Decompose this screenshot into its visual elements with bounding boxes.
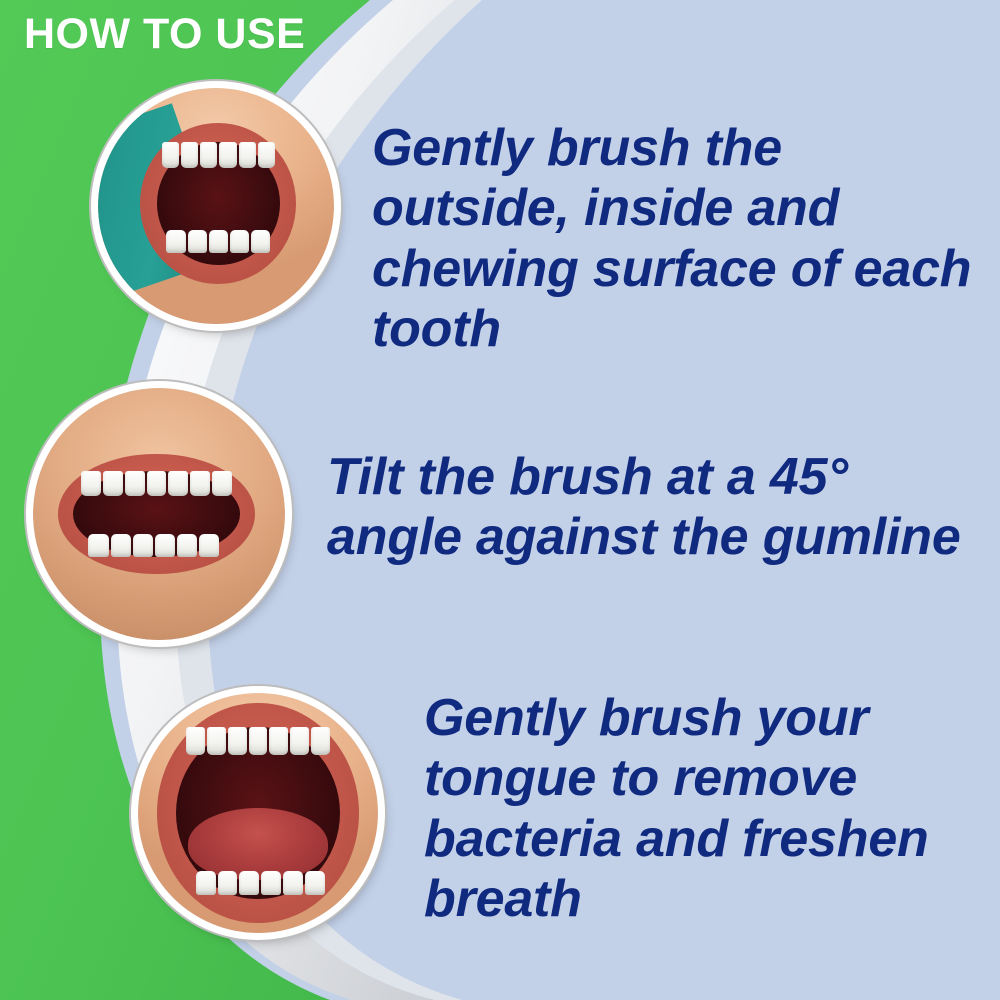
step-2-instruction-text: Tilt the brush at a 45° angle against th… [327,447,987,568]
open-mouth-brushing-front-teeth-photo [98,88,334,324]
tongue [188,808,327,880]
lower-teeth [88,534,219,557]
lower-teeth [196,871,326,895]
upper-teeth [186,727,330,756]
upper-teeth [81,471,232,496]
open-mouth-brushing-tongue-photo [138,693,378,933]
upper-teeth [162,142,275,168]
page-title: HOW TO USE [24,12,305,57]
step-3-instruction-text: Gently brush your tongue to remove bacte… [424,688,984,929]
lower-teeth [166,230,270,254]
mouth-brush-45-degree-gumline-photo [33,388,285,640]
step-1-instruction-text: Gently brush the outside, inside and che… [372,118,972,359]
how-to-use-poster: HOW TO USE Gentl [0,0,1000,1000]
